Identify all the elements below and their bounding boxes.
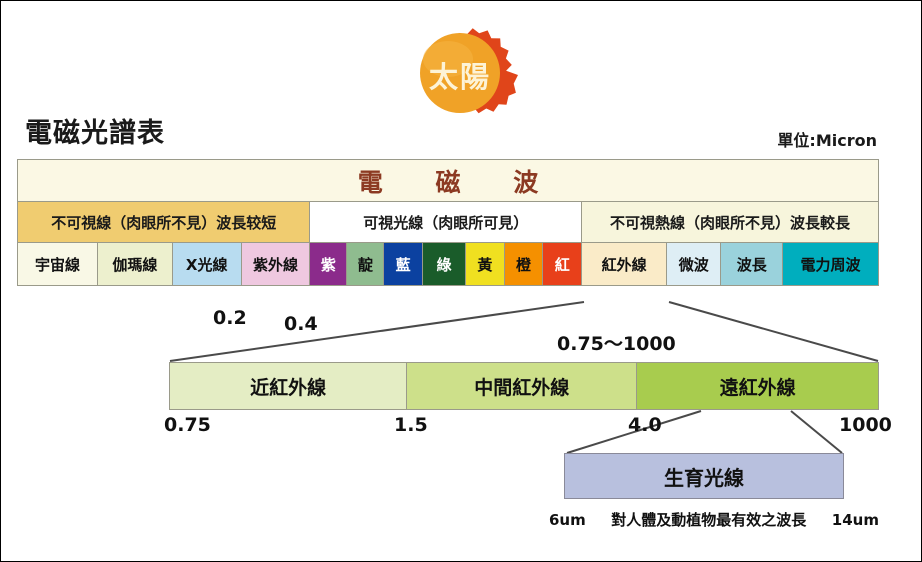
em-wave-title: 電 磁 波: [336, 163, 560, 199]
band-cell-14: 電力周波: [783, 243, 878, 285]
unit-label: 單位:Micron: [777, 127, 877, 151]
fertility-caption: 6um 對人體及動植物最有效之波長 14um: [549, 509, 879, 530]
fertility-caption-text: 對人體及動植物最有效之波長: [611, 509, 806, 530]
infrared-scale-label-0: 0.75: [164, 414, 211, 436]
band-cell-12: 微波: [667, 243, 721, 285]
sun-icon: [384, 15, 536, 135]
band-cell-11: 紅外線: [582, 243, 667, 285]
band-cell-3: 紫外線: [242, 243, 311, 285]
sun-highlight-icon: [423, 41, 473, 77]
fertility-left-value: 6um: [549, 511, 586, 529]
band-cell-8: 黃: [466, 243, 505, 285]
infrared-scale-label-3: 1000: [839, 414, 892, 436]
infrared-segment-2: 遠紅外線: [637, 363, 878, 409]
electromagnetic-spectrum-diagram: 太陽 電磁光譜表 單位:Micron 電 磁 波 不可視線（肉眼所不見）波長较短…: [0, 0, 922, 562]
tick-label-2: 0.75～1000: [557, 329, 676, 356]
infrared-scale-label-1: 1.5: [394, 414, 428, 436]
band-cell-4: 紫: [310, 243, 347, 285]
infrared-segment-1: 中間紅外線: [407, 363, 637, 409]
ir-connector-right: [669, 302, 878, 361]
band-cell-0: 宇宙線: [18, 243, 98, 285]
band-cell-10: 紅: [543, 243, 582, 285]
infrared-subband-bar: 近紅外線中間紅外線遠紅外線: [169, 362, 879, 410]
fertility-connector-right: [791, 411, 842, 453]
band-cell-7: 綠: [423, 243, 466, 285]
sun-graphic: 太陽: [384, 15, 536, 135]
band-cell-6: 藍: [384, 243, 423, 285]
page-title: 電磁光譜表: [25, 111, 165, 150]
visibility-cell-1: 可視光線（肉眼所可見）: [310, 202, 582, 242]
band-cell-1: 伽瑪線: [98, 243, 173, 285]
visibility-cell-0: 不可視線（肉眼所不見）波長较短: [18, 202, 310, 242]
band-cell-2: X光線: [173, 243, 242, 285]
band-cell-13: 波長: [721, 243, 783, 285]
infrared-scale-label-2: 4.0: [628, 414, 662, 436]
visibility-cell-2: 不可視熱線（肉眼所不見）波長較長: [582, 202, 878, 242]
fertility-light-box: 生育光線: [564, 453, 844, 499]
em-wave-header-row: 電 磁 波: [18, 160, 878, 202]
tick-label-0: 0.2: [213, 307, 247, 329]
band-cell-9: 橙: [505, 243, 544, 285]
visibility-row: 不可視線（肉眼所不見）波長较短可視光線（肉眼所可見）不可視熱線（肉眼所不見）波長…: [18, 202, 878, 243]
tick-label-1: 0.4: [284, 313, 318, 335]
spectrum-table: 電 磁 波 不可視線（肉眼所不見）波長较短可視光線（肉眼所可見）不可視熱線（肉眼…: [17, 159, 879, 286]
bands-row: 宇宙線伽瑪線X光線紫外線紫靛藍綠黃橙紅紅外線微波波長電力周波: [18, 243, 878, 285]
infrared-segment-0: 近紅外線: [170, 363, 407, 409]
band-cell-5: 靛: [347, 243, 384, 285]
fertility-right-value: 14um: [832, 511, 879, 529]
